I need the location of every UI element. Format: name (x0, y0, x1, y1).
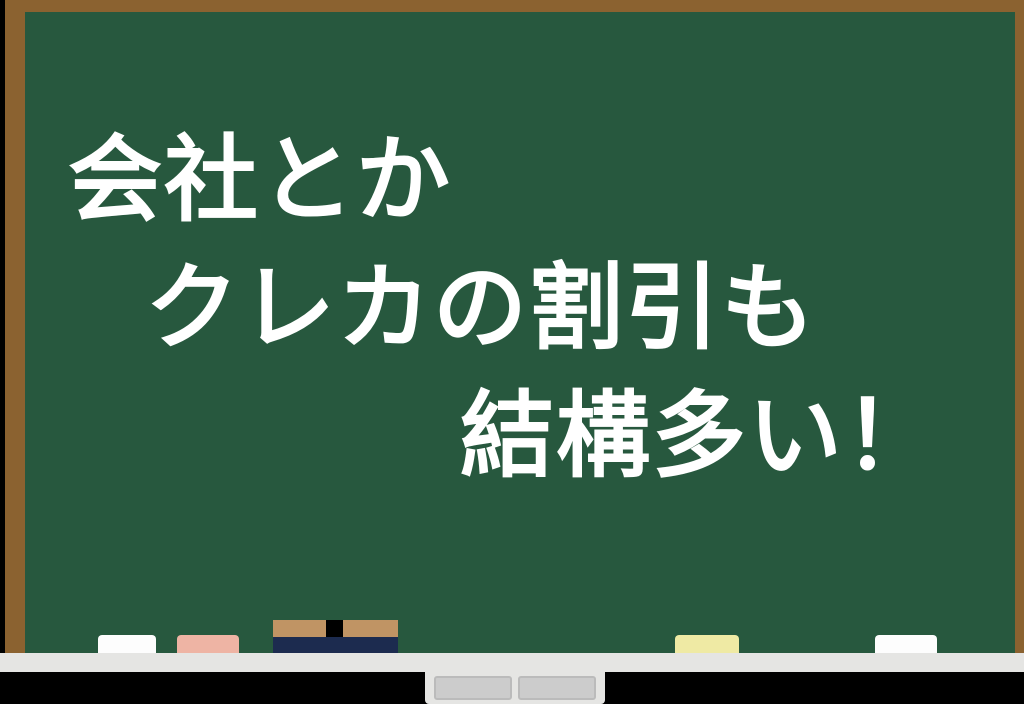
eraser-body (273, 637, 398, 653)
control-button-left[interactable] (434, 676, 512, 700)
blackboard-eraser (273, 620, 398, 653)
tray-items (0, 0, 1024, 653)
chalk-tray (0, 653, 1024, 672)
chalk-pink (177, 635, 239, 653)
chalk-white-right (875, 635, 937, 653)
control-button-right[interactable] (518, 676, 596, 700)
screen: 会社とか クレカの割引も 結構多い！ (0, 0, 1024, 704)
control-bar (425, 672, 605, 704)
eraser-top-gap (326, 620, 343, 637)
eraser-top-right (343, 620, 398, 637)
eraser-top-left (273, 620, 326, 637)
chalk-white-left (98, 635, 156, 653)
chalk-yellow (675, 635, 739, 653)
